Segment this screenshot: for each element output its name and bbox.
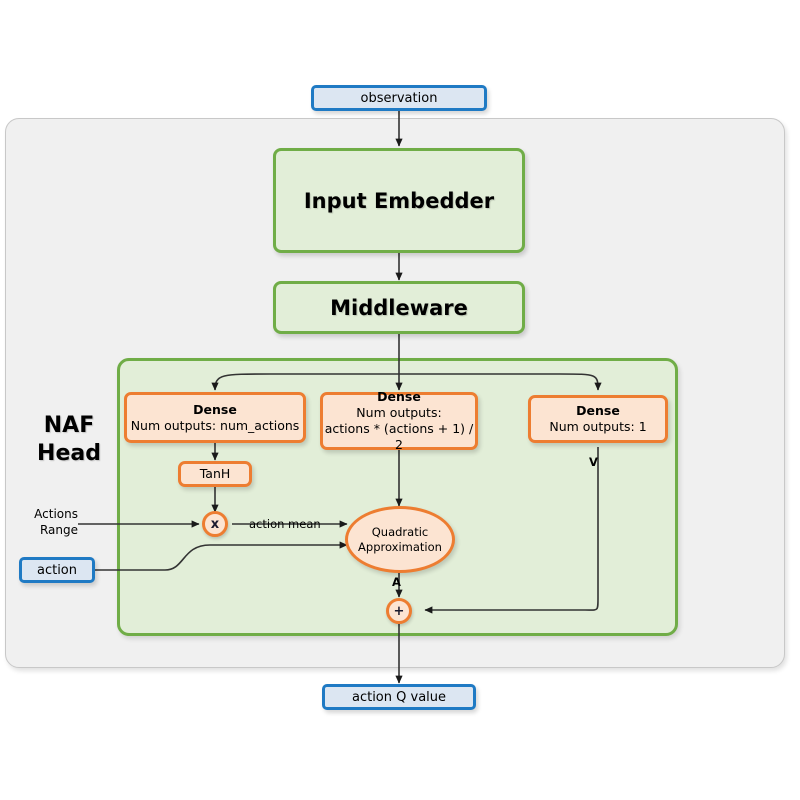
dense-right-outputs: Num outputs: 1 bbox=[549, 419, 646, 435]
actions-range-line2: Range bbox=[18, 523, 78, 539]
actions-range-label: Actions Range bbox=[18, 507, 78, 538]
dense-right-node[interactable]: Dense Num outputs: 1 bbox=[528, 395, 668, 443]
quadratic-approximation-node[interactable]: Quadratic Approximation bbox=[345, 506, 455, 573]
action-input-label: action bbox=[37, 563, 77, 578]
diagram-canvas: NAF Head bbox=[0, 0, 800, 800]
dense-center-outputs: Num outputs: bbox=[356, 405, 441, 421]
middleware-node[interactable]: Middleware bbox=[273, 281, 525, 334]
action-mean-edge-label: action mean bbox=[249, 517, 321, 531]
add-operator[interactable]: + bbox=[386, 598, 412, 624]
dense-right-title: Dense bbox=[576, 403, 620, 419]
dense-left-outputs: Num outputs: num_actions bbox=[131, 418, 300, 434]
value-edge-label: V bbox=[589, 455, 598, 469]
dense-center-node[interactable]: Dense Num outputs: actions * (actions + … bbox=[320, 392, 478, 450]
input-embedder-label: Input Embedder bbox=[304, 189, 494, 213]
observation-label: observation bbox=[361, 91, 438, 106]
observation-node[interactable]: observation bbox=[311, 85, 487, 111]
action-q-value-node[interactable]: action Q value bbox=[322, 684, 476, 710]
multiply-symbol: x bbox=[211, 517, 219, 532]
dense-center-formula: actions * (actions + 1) / 2 bbox=[323, 421, 475, 453]
add-symbol: + bbox=[394, 604, 405, 619]
dense-center-title: Dense bbox=[377, 389, 421, 405]
middleware-label: Middleware bbox=[330, 296, 468, 320]
quadratic-line1: Quadratic bbox=[372, 525, 429, 540]
quadratic-line2: Approximation bbox=[358, 540, 442, 555]
tanh-label: TanH bbox=[200, 466, 231, 482]
advantage-edge-label: A bbox=[392, 575, 401, 589]
action-input-node[interactable]: action bbox=[19, 557, 95, 583]
tanh-node[interactable]: TanH bbox=[178, 461, 252, 487]
action-q-value-label: action Q value bbox=[352, 690, 446, 705]
input-embedder-node[interactable]: Input Embedder bbox=[273, 148, 525, 253]
naf-head-title: NAF Head bbox=[26, 412, 112, 467]
dense-left-node[interactable]: Dense Num outputs: num_actions bbox=[124, 392, 306, 443]
dense-left-title: Dense bbox=[193, 402, 237, 418]
actions-range-line1: Actions bbox=[18, 507, 78, 523]
multiply-operator[interactable]: x bbox=[202, 511, 228, 537]
